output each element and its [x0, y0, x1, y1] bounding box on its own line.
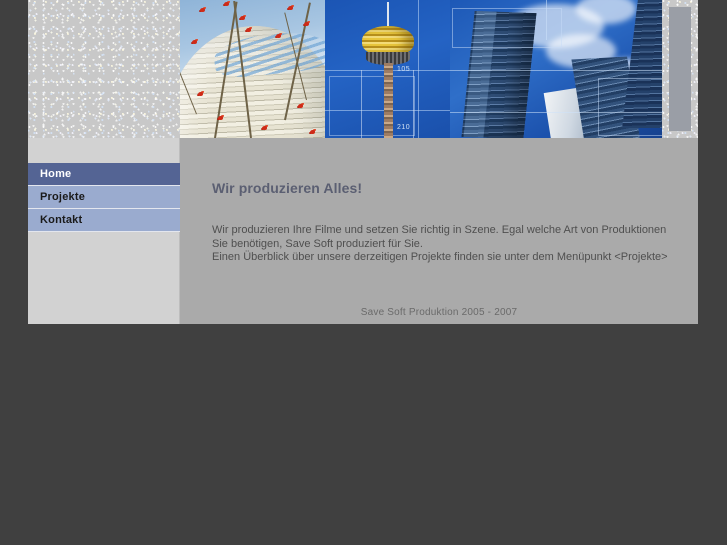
banner-right-inner-box: [669, 7, 691, 131]
blossom: [288, 6, 293, 10]
blossom: [310, 130, 315, 134]
blossom: [246, 28, 251, 32]
blueprint-line: [418, 0, 419, 138]
tower-cable: [413, 70, 414, 138]
blossom: [200, 8, 205, 12]
blossom: [304, 22, 309, 26]
tower-mast: [387, 2, 389, 28]
main-navigation: Home Projekte Kontakt: [28, 163, 180, 232]
page-container: 105 210: [28, 0, 698, 324]
main-content: Wir produzieren Alles! Wir produzieren I…: [180, 138, 698, 324]
blueprint-line: [450, 70, 668, 71]
blossom: [298, 104, 303, 108]
sidebar-item-kontakt[interactable]: Kontakt: [28, 209, 180, 232]
banner-right-strip: [662, 0, 698, 138]
blueprint-box: [598, 78, 666, 136]
footer-copyright: Save Soft Produktion 2005 - 2007: [180, 307, 698, 318]
blueprint-box: [452, 8, 562, 48]
paragraph-line: Wir produzieren Ihre Filme und setzen Si…: [212, 224, 682, 238]
intro-paragraph: Wir produzieren Ihre Filme und setzen Si…: [212, 224, 682, 265]
header-row: 105 210: [28, 0, 698, 138]
blueprint-label-210: 210: [397, 124, 410, 131]
blossom: [276, 34, 281, 38]
blueprint-label-105: 105: [397, 66, 410, 73]
blossom: [224, 2, 229, 6]
page-title: Wir produzieren Alles!: [212, 180, 682, 196]
paragraph-line: Einen Überblick über unsere derzeitigen …: [212, 251, 682, 265]
banner-image-glass-skyscrapers: [450, 0, 668, 138]
blossom: [240, 16, 245, 20]
blossom: [192, 40, 197, 44]
sidebar-item-label: Kontakt: [40, 214, 82, 226]
content-body: Wir produzieren Alles! Wir produzieren I…: [212, 180, 682, 265]
sidebar-item-home[interactable]: Home: [28, 163, 180, 186]
blossom: [198, 92, 203, 96]
sidebar-item-label: Home: [40, 168, 71, 180]
banner-image-sydney-tower: 105 210: [325, 0, 450, 138]
paragraph-line: Sie benötigen, Save Soft produziert für …: [212, 238, 682, 252]
blossom: [218, 116, 223, 120]
header-banner: 105 210: [180, 0, 698, 138]
body-row: Home Projekte Kontakt Wir produzieren Al…: [28, 138, 698, 324]
tower-cable: [361, 70, 362, 138]
sidebar-item-label: Projekte: [40, 191, 85, 203]
sidebar: Home Projekte Kontakt: [28, 138, 180, 324]
banner-image-curved-white-building: [180, 0, 325, 138]
blossom: [262, 126, 267, 130]
header-left-texture: [28, 0, 180, 138]
sidebar-item-projekte[interactable]: Projekte: [28, 186, 180, 209]
tower-shaft: [384, 63, 393, 138]
